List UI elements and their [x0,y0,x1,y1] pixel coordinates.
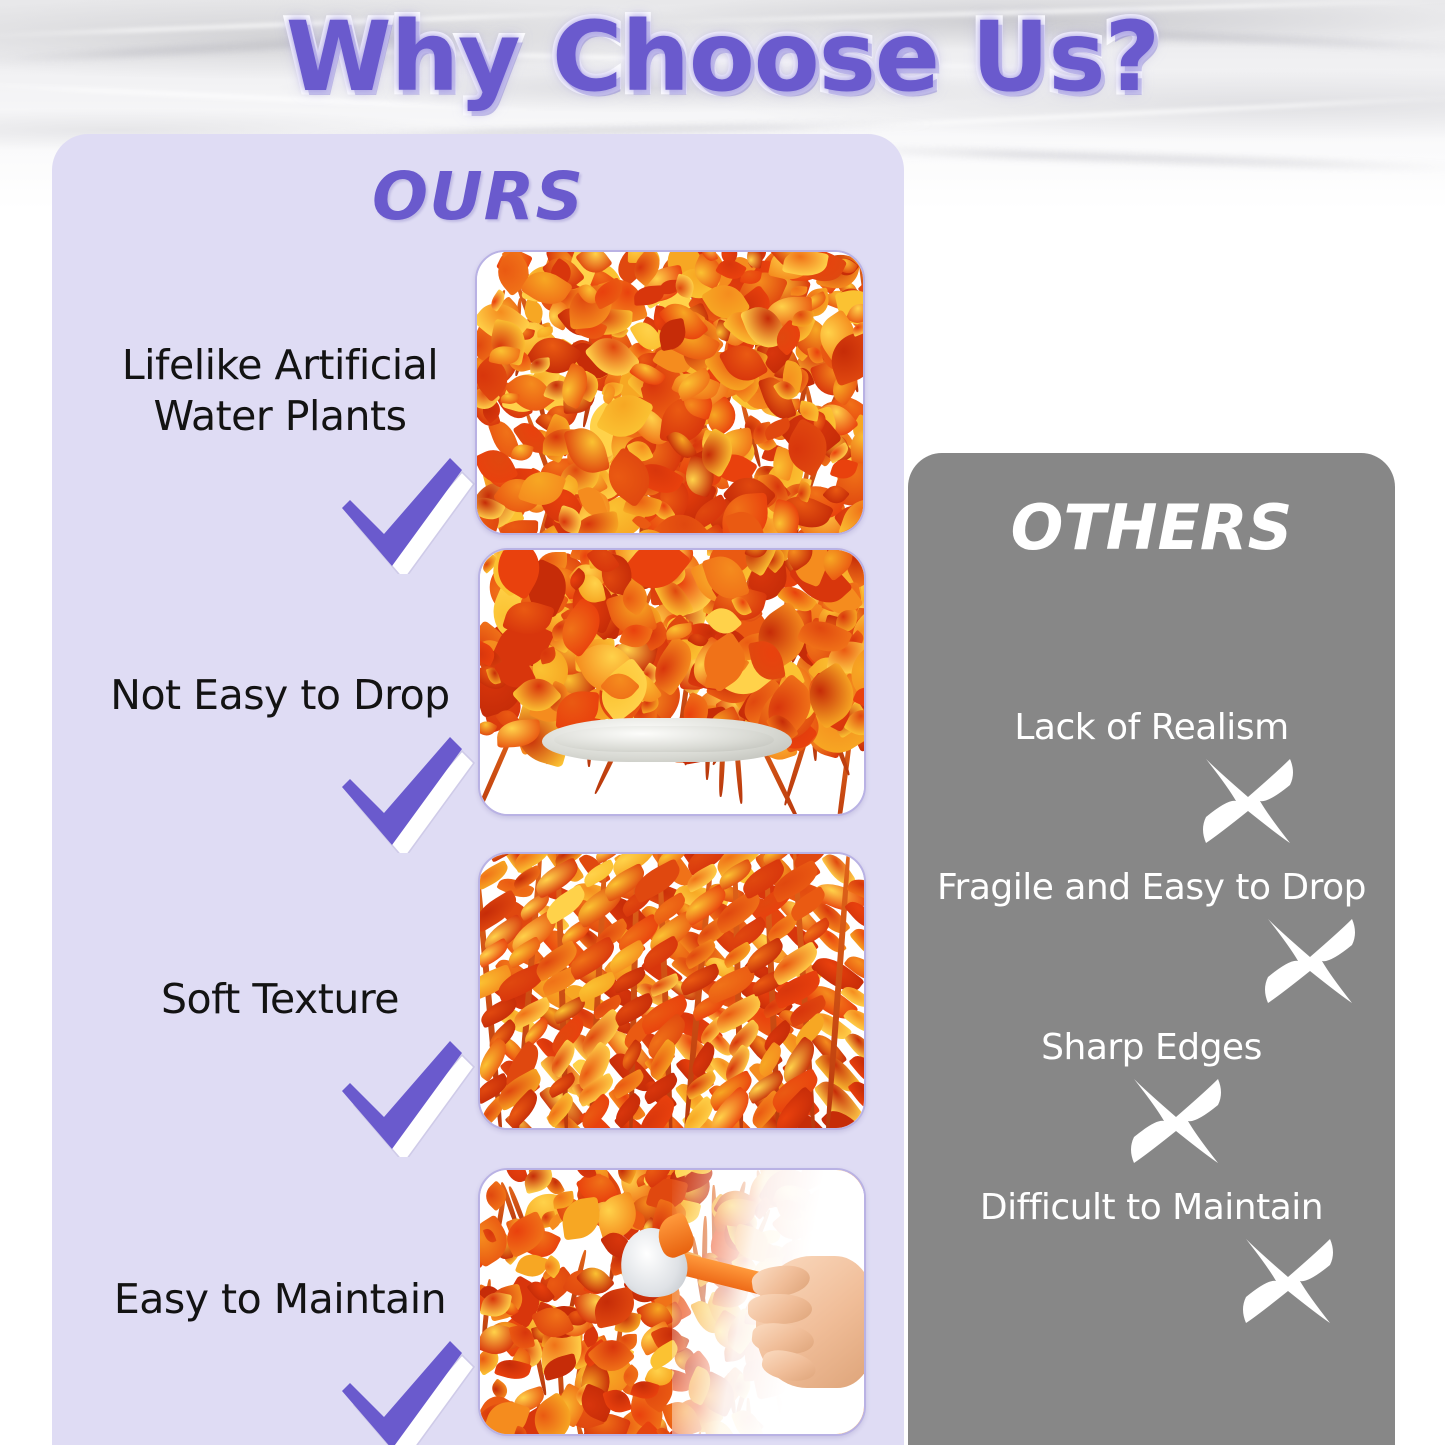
check-icon [322,1331,482,1445]
ours-heading: OURS [52,160,904,234]
ours-feature-1-photo [475,250,865,535]
ours-feature-2: Not Easy to Drop [70,670,490,853]
page-title: Why Choose Us? [0,4,1445,110]
others-drawback-1-label: Lack of Realism [908,705,1395,751]
ours-feature-4-photo [478,1168,866,1436]
ours-feature-3: Soft Texture [70,974,490,1157]
others-drawback-3: Sharp Edges [908,1025,1395,1167]
ours-feature-1-label: Lifelike Artificial Water Plants [70,340,490,442]
others-drawback-1: Lack of Realism [908,705,1395,847]
others-heading: OTHERS [908,493,1395,563]
ours-feature-1: Lifelike Artificial Water Plants [70,340,490,574]
cross-icon [1126,1075,1226,1167]
check-icon [322,448,482,574]
photo-4-content [480,1170,864,1434]
ours-feature-2-label: Not Easy to Drop [70,670,490,721]
cross-icon [1198,755,1298,847]
photo-2-content [480,550,864,814]
others-drawback-4: Difficult to Maintain [908,1185,1395,1327]
ours-feature-3-photo [478,852,866,1130]
others-drawback-4-label: Difficult to Maintain [908,1185,1395,1231]
ours-feature-4-label: Easy to Maintain [70,1274,490,1325]
others-drawback-3-label: Sharp Edges [908,1025,1395,1071]
check-icon [322,727,482,853]
ours-feature-4: Easy to Maintain [70,1274,490,1445]
ours-feature-2-photo [478,548,866,816]
photo-1-content [477,252,863,533]
infographic-stage: Why Choose Us? OURS Lifelike Artificial … [0,0,1445,1445]
others-drawback-2-label: Fragile and Easy to Drop [908,865,1395,911]
ours-feature-3-label: Soft Texture [70,974,490,1025]
check-icon [322,1031,482,1157]
cross-icon [1238,1235,1338,1327]
others-panel: OTHERS Lack of Realism Fragile and Easy … [908,453,1395,1445]
cross-icon [1260,915,1360,1007]
others-drawback-2: Fragile and Easy to Drop [908,865,1395,1007]
photo-3-content [480,854,864,1128]
